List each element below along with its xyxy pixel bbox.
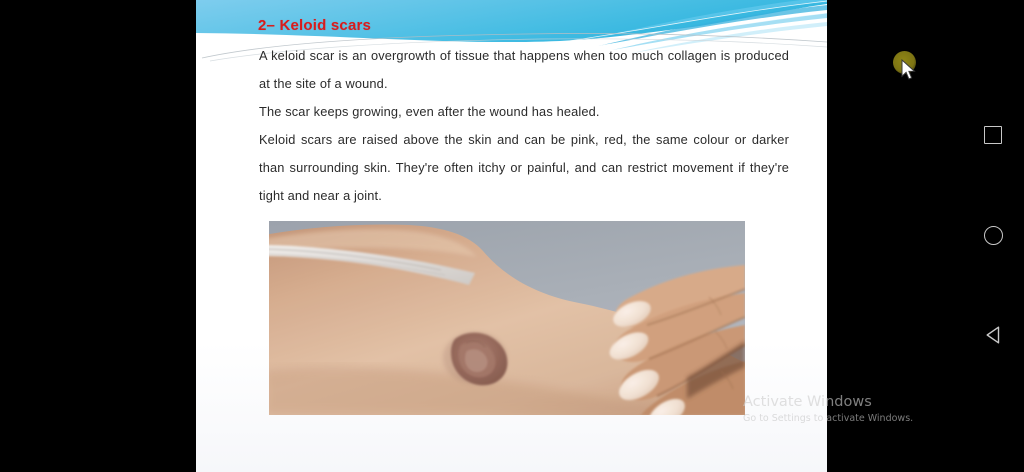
slide-canvas[interactable]: 2– Keloid scars A keloid scar is an over… xyxy=(196,0,827,472)
body-text-block: A keloid scar is an overgrowth of tissue… xyxy=(259,42,789,210)
square-icon xyxy=(984,126,1002,144)
paragraph-1: A keloid scar is an overgrowth of tissue… xyxy=(259,42,789,98)
paragraph-2: The scar keeps growing, even after the w… xyxy=(259,98,789,126)
phone-screen: 2– Keloid scars A keloid scar is an over… xyxy=(0,0,1024,472)
mouse-pointer-cursor xyxy=(901,59,917,86)
android-navigation-bar xyxy=(962,0,1024,472)
back-button[interactable] xyxy=(978,320,1008,350)
home-button[interactable] xyxy=(978,220,1008,250)
keloid-scar-photo xyxy=(269,221,745,415)
recents-button[interactable] xyxy=(978,120,1008,150)
triangle-left-icon xyxy=(984,325,1002,345)
paragraph-3: Keloid scars are raised above the skin a… xyxy=(259,126,789,210)
page-title: 2– Keloid scars xyxy=(258,17,371,34)
circle-icon xyxy=(984,226,1003,245)
